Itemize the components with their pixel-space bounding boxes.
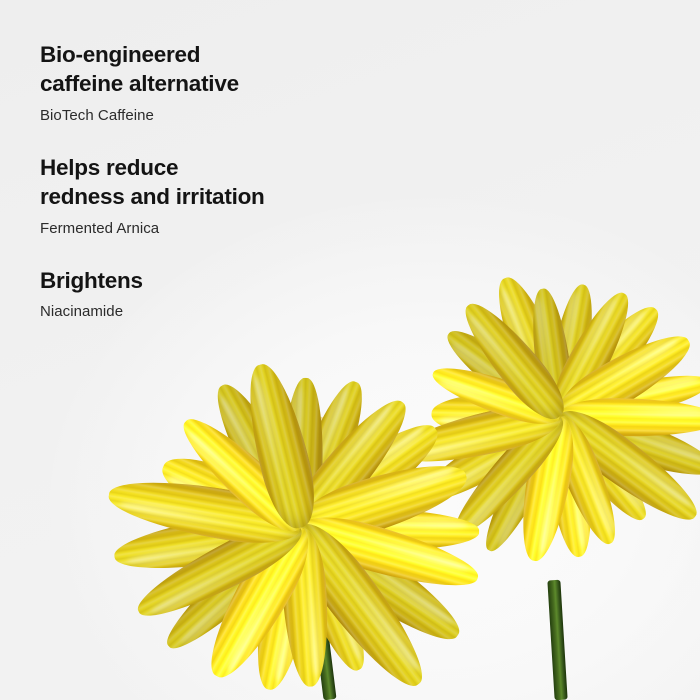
claim-title: Brightens bbox=[40, 266, 370, 295]
claims-list: Bio-engineered caffeine alternative BioT… bbox=[40, 40, 370, 322]
claim-item-3: Brightens Niacinamide bbox=[40, 266, 370, 322]
claim-item-2: Helps reduce redness and irritation Ferm… bbox=[40, 153, 370, 238]
claim-title: Bio-engineered caffeine alternative bbox=[40, 40, 370, 99]
back-stem-icon bbox=[547, 580, 567, 700]
claim-item-1: Bio-engineered caffeine alternative BioT… bbox=[40, 40, 370, 125]
claim-ingredient: Fermented Arnica bbox=[40, 219, 370, 239]
claim-title: Helps reduce redness and irritation bbox=[40, 153, 370, 212]
claim-ingredient: BioTech Caffeine bbox=[40, 106, 370, 126]
product-claims-image: Bio-engineered caffeine alternative BioT… bbox=[0, 0, 700, 700]
claim-ingredient: Niacinamide bbox=[40, 302, 370, 322]
